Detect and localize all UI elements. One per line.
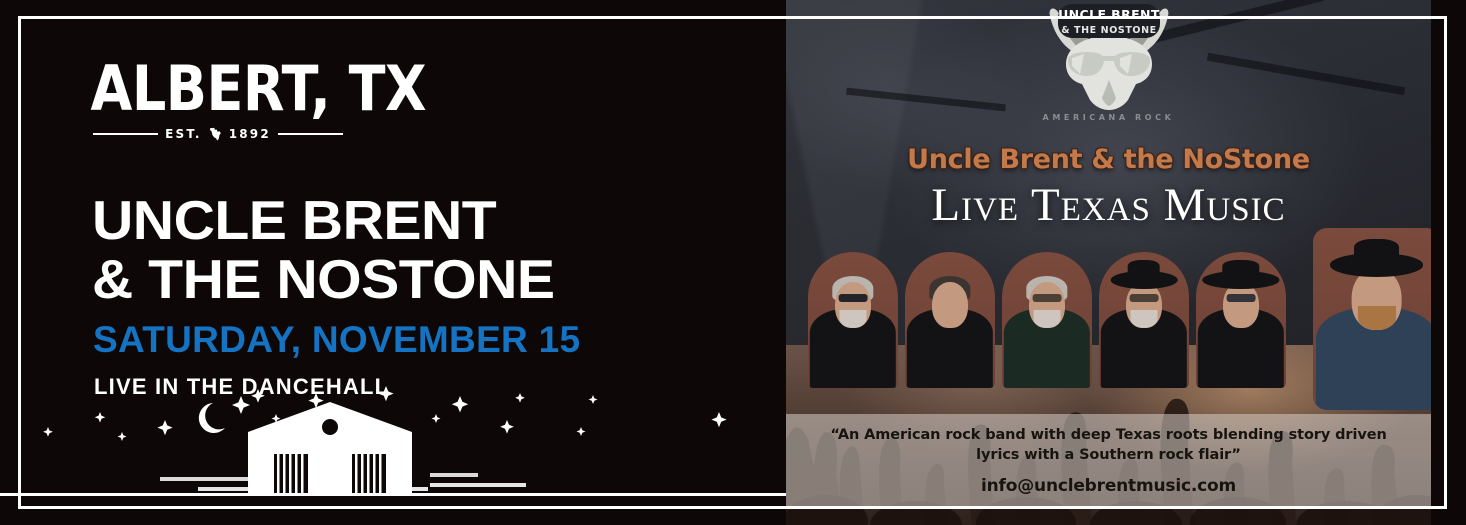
band-member-portrait bbox=[808, 252, 898, 388]
portrait-cap bbox=[1330, 253, 1424, 277]
band-member-portrait bbox=[905, 252, 995, 388]
portrait-glasses bbox=[1227, 294, 1256, 302]
band-logo-tagline: AMERICANA ROCK bbox=[1024, 113, 1194, 122]
event-artist-title: UNCLE BRENT & THE NOSTONE bbox=[92, 191, 555, 310]
dancehall-building-icon bbox=[248, 402, 412, 495]
texas-state-icon bbox=[209, 127, 222, 141]
portrait-beard bbox=[840, 310, 867, 328]
portrait-glasses bbox=[1130, 294, 1159, 302]
portrait-beard bbox=[1034, 310, 1061, 328]
band-member-portrait bbox=[1099, 252, 1189, 388]
venue-logo-est-label: EST. bbox=[165, 127, 202, 141]
band-member-portraits bbox=[808, 252, 1286, 388]
portrait-beard bbox=[1357, 306, 1395, 330]
portrait-face bbox=[932, 282, 968, 328]
portrait-hat bbox=[1111, 271, 1178, 289]
portrait-face bbox=[1223, 282, 1259, 328]
logo-rule-right bbox=[278, 133, 343, 135]
venue-logo-established: EST. 1892 bbox=[93, 127, 343, 141]
artist-line-1: UNCLE BRENT bbox=[92, 189, 496, 251]
portrait-cowboy-hat bbox=[1202, 271, 1279, 289]
poster-quote-band: “An American rock band with deep Texas r… bbox=[786, 414, 1431, 509]
artist-line-2: & THE NOSTONE bbox=[92, 250, 555, 309]
left-info-panel: ALBERT, TX EST. 1892 UNCLE BRENT & THE N… bbox=[0, 0, 786, 525]
poster-headline: Live Texas Music bbox=[786, 178, 1431, 232]
band-member-portrait bbox=[1196, 252, 1286, 388]
portrait-sunglasses bbox=[839, 294, 868, 302]
poster-contact-email: info@unclebrentmusic.com bbox=[786, 476, 1431, 496]
band-poster: UNCLE BRENT & THE NOSTONE AMERICANA ROCK… bbox=[786, 0, 1431, 525]
poster-quote: “An American rock band with deep Texas r… bbox=[786, 425, 1431, 465]
venue-logo: ALBERT, TX EST. 1892 bbox=[93, 58, 343, 141]
band-logo-line1: UNCLE BRENT bbox=[1058, 7, 1160, 22]
portrait-glasses bbox=[1033, 294, 1062, 302]
portrait-beard bbox=[1131, 310, 1158, 328]
band-logo-line2: & THE NOSTONE bbox=[1061, 25, 1157, 36]
band-logo: UNCLE BRENT & THE NOSTONE AMERICANA ROCK bbox=[1024, 2, 1194, 124]
venue-logo-name: ALBERT, TX bbox=[91, 58, 346, 121]
band-member-portrait bbox=[1002, 252, 1092, 388]
longhorn-skull-sunglasses-icon: UNCLE BRENT & THE NOSTONE bbox=[1024, 2, 1194, 110]
event-banner: ALBERT, TX EST. 1892 UNCLE BRENT & THE N… bbox=[0, 0, 1466, 525]
event-date: SATURDAY, NOVEMBER 15 bbox=[93, 319, 580, 361]
dancehall-night-scene bbox=[0, 365, 786, 525]
band-member-featured-portrait bbox=[1313, 228, 1431, 410]
right-edge-fill bbox=[1431, 0, 1466, 525]
logo-rule-left bbox=[93, 133, 158, 135]
poster-band-name: Uncle Brent & the NoStone bbox=[786, 144, 1431, 175]
crescent-moon-icon bbox=[199, 403, 225, 433]
venue-logo-est-year: 1892 bbox=[229, 127, 271, 141]
